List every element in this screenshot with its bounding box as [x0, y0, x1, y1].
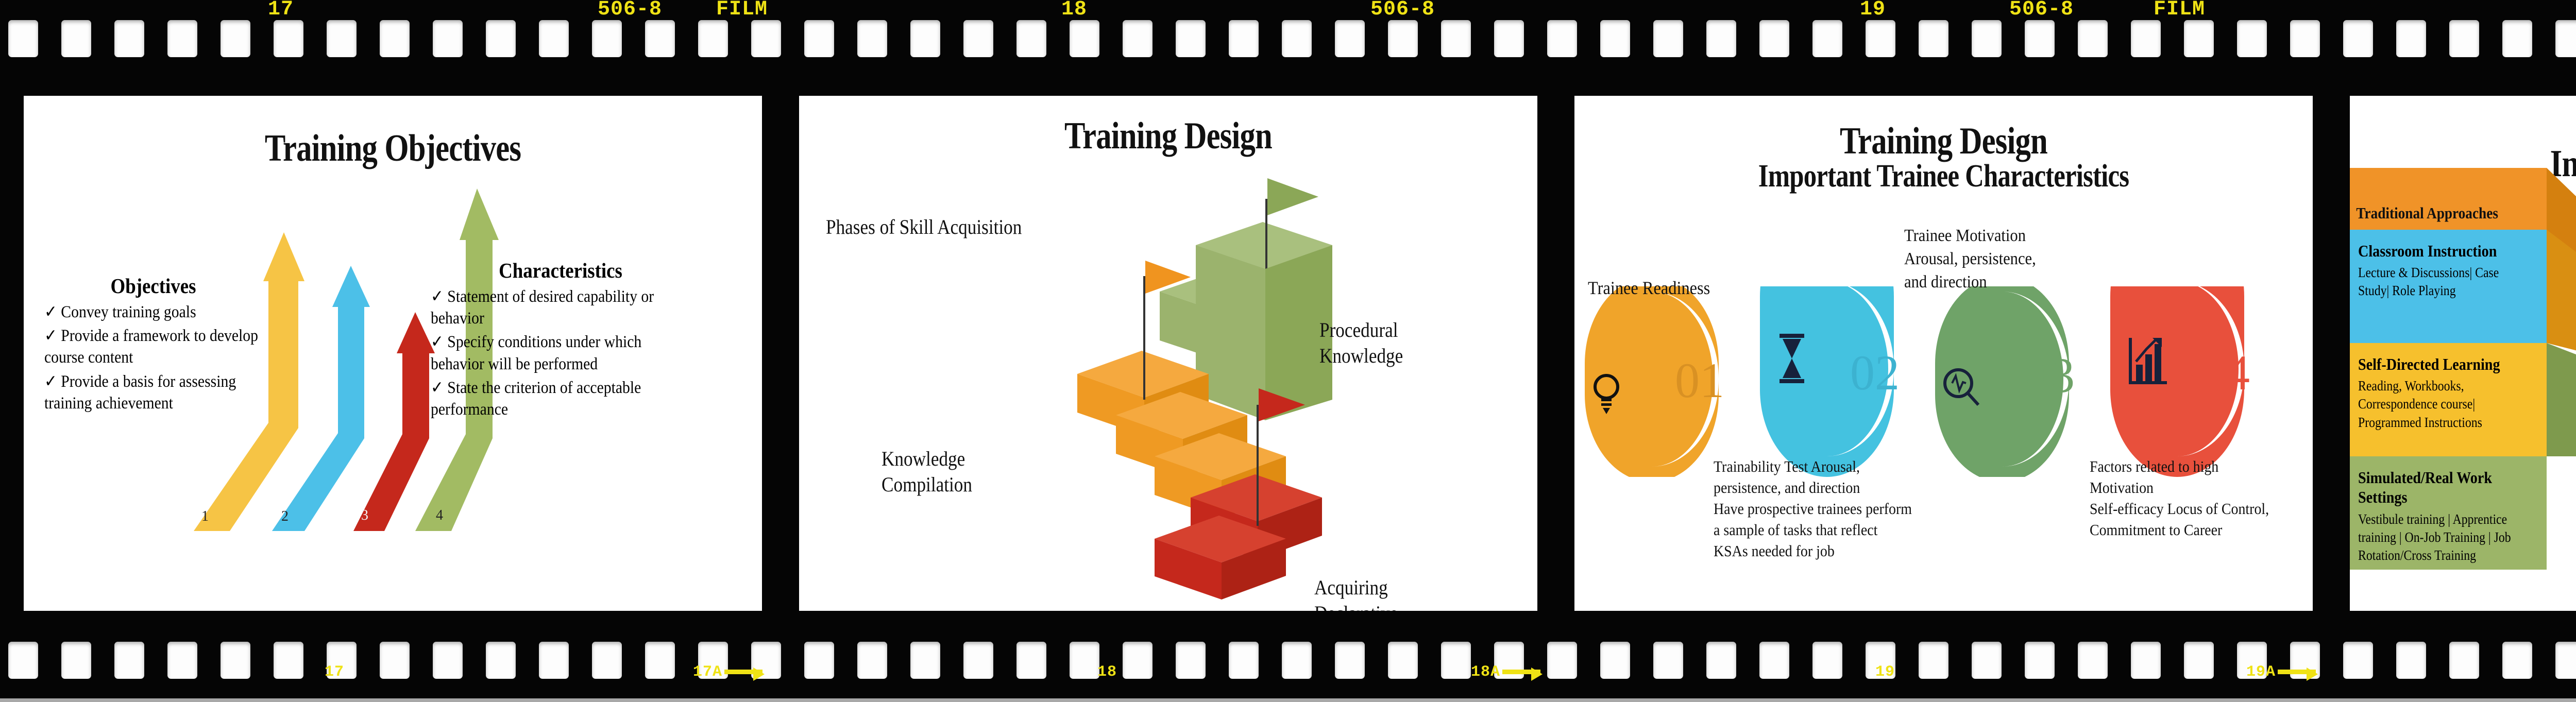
sprocket-hole	[2502, 642, 2532, 679]
edge-brand-17: FILM	[716, 0, 768, 21]
sprocket-hole	[2078, 642, 2108, 679]
sprocket-hole	[167, 642, 197, 679]
sprocket-hole	[114, 642, 144, 679]
sprocket-hole	[963, 642, 993, 679]
slide1-characteristics-item: ✓ Statement of desired capability or beh…	[431, 286, 690, 329]
slide3-process-graphic: 01 02 03	[1574, 286, 2313, 477]
sprocket-hole	[2290, 20, 2320, 57]
sprocket-hole	[1653, 642, 1683, 679]
edge-frame-number-17: 17	[268, 0, 294, 21]
sprocket-hole	[910, 20, 940, 57]
sprocket-hole	[8, 20, 38, 57]
sprocket-hole	[2502, 20, 2532, 57]
slide-panel-instructional-techniques[interactable]: Instructional Techniques Traditional App…	[2350, 96, 2576, 611]
slide-panel-trainee-characteristics[interactable]: Training Design Important Trainee Charac…	[1574, 96, 2313, 611]
sprocket-hole	[2343, 642, 2373, 679]
edge-code-19: 506-8	[2009, 0, 2074, 21]
sprocket-hole	[910, 642, 940, 679]
sprocket-hole	[2555, 20, 2576, 57]
sprocket-hole	[1441, 642, 1471, 679]
slide1-characteristics-item: ✓ State the criterion of acceptable perf…	[431, 377, 690, 420]
slide4-band-3: Simulated/Real Work Settings Vestibule t…	[2350, 456, 2576, 570]
slide-panel-training-design-phases[interactable]: Training Design	[799, 96, 1537, 611]
slide1-objectives-heading: Objectives	[44, 273, 262, 298]
arrow-icon	[2278, 670, 2316, 674]
edge-frame-number-18: 18	[1061, 0, 1087, 21]
sprocket-hole	[1441, 20, 1471, 57]
sprocket-row-top	[0, 19, 2576, 59]
sprocket-hole	[2555, 642, 2576, 679]
edge-brand-19: FILM	[2154, 0, 2205, 21]
slide4-band-1-left-heading: Classroom Instruction	[2358, 241, 2517, 261]
slide2-subtitle: Phases of Skill Acquisition	[826, 214, 1153, 240]
sprocket-hole	[274, 642, 303, 679]
sprocket-hole	[2025, 642, 2055, 679]
sprocket-hole	[1600, 642, 1630, 679]
slide4-band-2-left-heading: Self-Directed Learning	[2358, 354, 2517, 374]
slide1-objectives-block: Objectives ✓ Convey training goals ✓ Pro…	[44, 273, 262, 416]
sprocket-hole	[380, 642, 410, 679]
sprocket-hole	[221, 642, 250, 679]
sprocket-hole	[2184, 20, 2214, 57]
sprocket-hole	[2184, 642, 2214, 679]
slide4-band-3-left: Simulated/Real Work Settings Vestibule t…	[2350, 456, 2547, 570]
sprocket-hole	[1600, 20, 1630, 57]
sprocket-hole	[1335, 642, 1365, 679]
slide1-objectives-item: ✓ Provide a basis for assessing training…	[44, 371, 262, 414]
sprocket-hole	[1812, 20, 1842, 57]
sprocket-hole	[698, 20, 728, 57]
sprocket-hole	[1176, 20, 1206, 57]
arrow-icon	[1502, 670, 1540, 674]
arrow-icon	[724, 670, 762, 674]
sprocket-hole	[1176, 642, 1206, 679]
sprocket-hole	[2237, 20, 2267, 57]
sprocket-hole	[804, 20, 834, 57]
slide3-caption-04: Factors related to high Motivation Self-…	[2090, 456, 2284, 541]
filmstrip: 17 506-8 FILM 18 506-8 19 506-8 FILM 20 …	[0, 0, 2576, 702]
sprocket-hole	[1070, 642, 1099, 679]
slide3-step-number-02: 02	[1850, 345, 1900, 400]
slide1-characteristics-heading: Characteristics	[431, 258, 690, 283]
sprocket-hole	[1335, 20, 1365, 57]
slide1-objectives-item: ✓ Provide a framework to develop course …	[44, 325, 262, 368]
slide3-label-trainee-motivation: Trainee Motivation Arousal, persistence,…	[1904, 225, 2099, 294]
slide2-step-label-procedural: Procedural Knowledge	[1319, 317, 1469, 369]
sprocket-hole	[61, 642, 91, 679]
sprocket-hole	[1547, 20, 1577, 57]
sprocket-hole	[592, 642, 622, 679]
sprocket-hole	[1388, 642, 1418, 679]
sprocket-hole	[1016, 642, 1046, 679]
slide3-label-trainee-readiness: Trainee Readiness	[1588, 276, 1773, 301]
sprocket-hole	[2025, 20, 2055, 57]
sprocket-hole	[1229, 20, 1259, 57]
slide1-title: Training Objectives	[90, 127, 696, 170]
arrow-number-3: 3	[361, 507, 368, 523]
sprocket-hole	[539, 642, 569, 679]
film-bottom-edge	[0, 698, 2576, 702]
slide3-title: Training Design	[1641, 119, 2246, 163]
arrow-number-2: 2	[281, 508, 289, 524]
slide1-characteristics-item: ✓ Specify conditions under which behavio…	[431, 331, 690, 374]
sprocket-hole	[857, 20, 887, 57]
edge-bottom-half-19A: 19A	[2246, 663, 2316, 681]
slide3-step-number-01: 01	[1675, 353, 1724, 408]
sprocket-hole	[1759, 20, 1789, 57]
sprocket-hole	[1547, 642, 1577, 679]
sprocket-hole	[1016, 20, 1046, 57]
slide2-step-label-compilation: Knowledge Compilation	[882, 446, 1031, 498]
slide3-step-number-04: 04	[2200, 345, 2250, 400]
slide3-step-number-03: 03	[2025, 348, 2075, 403]
slide4-band-2-left-body: Reading, Workbooks, Correspondence cours…	[2358, 377, 2517, 431]
sprocket-hole	[2449, 642, 2479, 679]
slide1-body: 1 2 3 4 Objectives ✓ Convey training goa…	[24, 170, 762, 577]
sprocket-hole	[1812, 642, 1842, 679]
sprocket-hole	[592, 20, 622, 57]
sprocket-hole	[2343, 20, 2373, 57]
sprocket-hole	[380, 20, 410, 57]
edge-frame-number-19: 19	[1860, 0, 1886, 21]
edge-bottom-half-18A: 18A	[1471, 663, 1540, 681]
slide2-step-label-declarative: Acquiring Declarative Knowledge	[1314, 575, 1464, 611]
sprocket-hole	[1494, 20, 1524, 57]
arrow-number-1: 1	[201, 508, 209, 524]
slide4-band-2-left: Self-Directed Learning Reading, Workbook…	[2350, 343, 2547, 456]
slide4-band-1-left: Classroom Instruction Lecture & Discussi…	[2350, 230, 2547, 343]
sprocket-hole	[1866, 20, 1895, 57]
sprocket-hole	[8, 642, 38, 679]
sprocket-hole	[539, 20, 569, 57]
sprocket-hole	[751, 20, 781, 57]
sprocket-row-bottom	[0, 640, 2576, 680]
slide3-subtitle: Important Trainee Characteristics	[1641, 158, 2246, 195]
sprocket-hole	[2131, 20, 2161, 57]
edge-bottom-frame-19: 19	[1875, 663, 1895, 681]
sprocket-hole	[2131, 642, 2161, 679]
sprocket-hole	[1759, 642, 1789, 679]
sprocket-hole	[114, 20, 144, 57]
slide4-band-3-left-body: Vestibule training | Apprentice training…	[2358, 510, 2517, 564]
sprocket-hole	[2396, 20, 2426, 57]
sprocket-hole	[857, 642, 887, 679]
sprocket-hole	[1282, 20, 1312, 57]
sprocket-hole	[433, 642, 463, 679]
sprocket-hole	[274, 20, 303, 57]
slide1-objectives-item: ✓ Convey training goals	[44, 301, 262, 323]
sprocket-hole	[2449, 20, 2479, 57]
slide4-funnel-graphic: Traditional Approaches New Technologies …	[2350, 230, 2576, 570]
sprocket-hole	[433, 20, 463, 57]
sprocket-hole	[645, 642, 675, 679]
sprocket-hole	[221, 20, 250, 57]
sprocket-hole	[1388, 20, 1418, 57]
slide4-band-1: Classroom Instruction Lecture & Discussi…	[2350, 230, 2576, 343]
slide4-band-2: Self-Directed Learning Reading, Workbook…	[2350, 343, 2576, 456]
sprocket-hole	[645, 20, 675, 57]
edge-code-17: 506-8	[598, 0, 662, 21]
sprocket-hole	[1123, 20, 1153, 57]
sprocket-hole	[1919, 20, 1948, 57]
sprocket-hole	[1070, 20, 1099, 57]
sprocket-hole	[1229, 642, 1259, 679]
edge-bottom-frame-17: 17	[325, 663, 344, 681]
slide4-band-3-left-heading: Simulated/Real Work Settings	[2358, 468, 2517, 507]
sprocket-hole	[1282, 642, 1312, 679]
sprocket-hole	[1653, 20, 1683, 57]
edge-bottom-half-17A: 17A	[693, 663, 762, 681]
sprocket-hole	[1972, 20, 2002, 57]
arrow-number-4: 4	[436, 507, 443, 523]
slide1-characteristics-block: Characteristics ✓ Statement of desired c…	[431, 258, 690, 422]
slide-panel-training-objectives[interactable]: Training Objectives 1 2 3 4 Objectives ✓…	[24, 96, 762, 611]
sprocket-hole	[2078, 20, 2108, 57]
sprocket-hole	[1706, 20, 1736, 57]
sprocket-hole	[486, 642, 516, 679]
sprocket-hole	[61, 20, 91, 57]
sprocket-hole	[1123, 642, 1153, 679]
edge-bottom-frame-18: 18	[1097, 663, 1117, 681]
sprocket-hole	[963, 20, 993, 57]
sprocket-hole	[327, 20, 357, 57]
slide3-caption-02: Trainability Test Arousal, persistence, …	[1714, 456, 1913, 562]
sprocket-hole	[1706, 642, 1736, 679]
slide4-band-1-left-body: Lecture & Discussions| Case Study| Role …	[2358, 264, 2517, 300]
sprocket-hole	[804, 642, 834, 679]
sprocket-hole	[167, 20, 197, 57]
sprocket-hole	[2396, 642, 2426, 679]
sprocket-hole	[1919, 642, 1948, 679]
edge-code-18: 506-8	[1370, 0, 1435, 21]
sprocket-hole	[486, 20, 516, 57]
sprocket-hole	[1972, 642, 2002, 679]
